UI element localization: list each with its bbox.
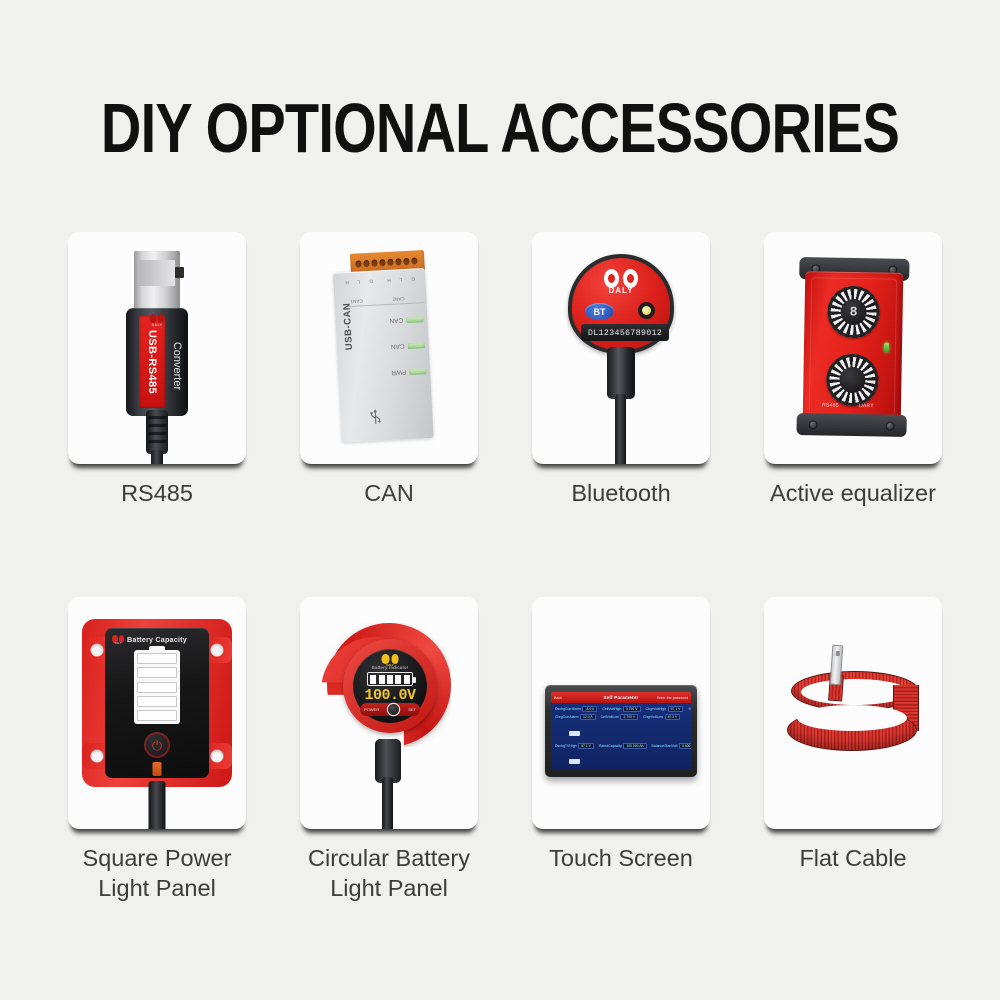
parameter-field: SOC66.0 % <box>688 706 691 712</box>
accessory-cell-touch-screen: Back Self Parameter Enter the password D… <box>532 597 710 829</box>
bt-badge: BT <box>585 303 614 320</box>
battery-indicator-text: Battery Indicator <box>353 665 427 670</box>
parameter-value[interactable]: -8.0 A <box>582 706 597 712</box>
parameter-key: DschgTVHigh <box>555 744 577 748</box>
bluetooth-cable <box>615 394 626 464</box>
status-led <box>406 316 423 323</box>
square-power-light-panel-icon: DALY Battery Capacity <box>82 619 232 829</box>
parameter-value[interactable]: 12.0 A <box>580 714 596 720</box>
equalizer-body: 8 RS485 UART <box>803 271 904 423</box>
caption-circular-battery-light-panel: Circular Battery Light Panel <box>274 843 504 903</box>
parameter-row: DschgTVHigh57.1 VRatedCapacity100.000 Ah… <box>555 743 687 749</box>
battery-level-indicator <box>367 672 413 686</box>
parameter-key: DschgCurrAlarm <box>555 707 581 711</box>
rs485-label: USB-RS485 <box>139 316 165 408</box>
converter-housing: USB-RS485 Converter DALY <box>126 308 188 416</box>
flat-ribbon-cable-icon <box>773 645 933 775</box>
button-label-set: SET <box>408 707 416 712</box>
parameter-value[interactable]: 3.750 V <box>623 706 641 712</box>
screen-button[interactable] <box>569 751 687 769</box>
voltage-readout: 100.0V <box>353 687 427 704</box>
caption-bluetooth: Bluetooth <box>506 478 736 508</box>
parameter-value[interactable]: 57.1 V <box>578 743 594 749</box>
fan-grille: 8 <box>827 286 880 339</box>
caption-touch-screen: Touch Screen <box>506 843 736 873</box>
header-title: Self Parameter <box>604 695 639 700</box>
accessory-cell-active-equalizer: 8 RS485 UART Active equalizer <box>764 232 942 464</box>
parameter-key: SOC <box>688 707 691 711</box>
button-bar[interactable]: POWER SET <box>360 703 420 716</box>
status-led <box>884 343 889 353</box>
display-screen[interactable]: Back Self Parameter Enter the password D… <box>551 692 691 770</box>
parameter-value[interactable]: 3.400 V <box>679 743 691 749</box>
serial-label: DL123456789012 <box>581 324 669 341</box>
power-button[interactable] <box>144 732 170 758</box>
parameter-field: BalanceStartVolt3.400 V <box>652 743 691 749</box>
accessory-cell-can: H L G H L G CAN1 CAN2 USB-CAN CAN <box>300 232 478 464</box>
accessory-cell-rs485: USB-RS485 Converter DALY <box>68 232 246 464</box>
product-card-flat-cable[interactable] <box>764 597 942 829</box>
product-card-active-equalizer[interactable]: 8 RS485 UART <box>764 232 942 464</box>
panel-heading: DALY Battery Capacity <box>112 633 204 645</box>
usb-plug-shell <box>134 250 180 314</box>
accessory-cell-square-power-light-panel: DALY Battery Capacity <box>68 597 246 829</box>
converter-label-text: Converter <box>171 342 183 390</box>
battery-level-indicator <box>134 650 180 724</box>
ribbon-coil-bottom-inner <box>797 705 907 731</box>
parameter-value[interactable]: 40.2 V <box>665 714 681 720</box>
parameter-key: ChrgCurrAlarm <box>555 715 579 719</box>
caption-square-power-light-panel: Square Power Light Panel <box>42 843 272 903</box>
rotary-knob[interactable] <box>388 704 399 715</box>
screen-button[interactable] <box>569 723 687 741</box>
product-card-square-power-light-panel[interactable]: DALY Battery Capacity <box>68 597 246 829</box>
parameter-field: CellVoltHigh3.750 V <box>602 706 640 712</box>
parameter-value[interactable]: 100.000 Ah <box>623 743 646 749</box>
fan-grille <box>826 354 879 407</box>
product-card-touch-screen[interactable]: Back Self Parameter Enter the password D… <box>532 597 710 829</box>
parameter-grid: DschgCurrAlarm-8.0 ACellVoltHigh3.750 VC… <box>551 703 691 770</box>
bluetooth-module-icon: DALY BT DL123456789012 <box>561 254 681 464</box>
caption-flat-cable: Flat Cable <box>738 843 968 873</box>
accessories-poster: DIY OPTIONAL ACCESSORIES USB-RS485 <box>0 0 1000 1000</box>
accessory-cell-flat-cable: Flat Cable <box>764 597 942 829</box>
converter-label: Converter <box>167 318 187 410</box>
product-card-can[interactable]: H L G H L G CAN1 CAN2 USB-CAN CAN <box>300 232 478 464</box>
fan-hub-label: 8 <box>850 304 858 319</box>
cable-strain-relief <box>146 410 168 454</box>
header-left-label[interactable]: Back <box>554 696 562 700</box>
parameter-field: ChrgCurrAlarm12.0 A <box>555 714 596 720</box>
daly-logo-icon: DALY <box>604 269 638 293</box>
battery-capacity-text: Battery Capacity <box>127 635 187 644</box>
caption-active-equalizer: Active equalizer <box>738 478 968 508</box>
parameter-field: DschgCurrAlarm-8.0 A <box>555 706 597 712</box>
panel-cable <box>382 777 393 829</box>
usb-can-text: USB-CAN <box>342 303 355 351</box>
caption-can: CAN <box>274 478 504 508</box>
panel-frame: DALY Battery Capacity <box>82 619 232 787</box>
daly-wordmark: DALY <box>608 286 633 295</box>
usb-can-module-icon: H L G H L G CAN1 CAN2 USB-CAN CAN <box>324 249 454 450</box>
usb-pin <box>158 267 167 278</box>
accessory-cell-bluetooth: DALY BT DL123456789012 Bluetooth <box>532 232 710 464</box>
daly-wordmark: DALY <box>152 323 163 327</box>
parameter-row: DschgCurrAlarm-8.0 ACellVoltHigh3.750 VC… <box>555 706 687 712</box>
connector <box>153 762 162 776</box>
product-card-circular-battery-light-panel[interactable]: DALY Battery Indicator 100.0V POWER SET <box>300 597 478 829</box>
parameter-value[interactable]: 2.700 V <box>620 714 638 720</box>
accessory-cell-circular-battery-light-panel: DALY Battery Indicator 100.0V POWER SET <box>300 597 478 829</box>
daly-logo-icon: DALY <box>150 314 165 323</box>
indicator-led <box>638 302 655 319</box>
product-card-bluetooth[interactable]: DALY BT DL123456789012 <box>532 232 710 464</box>
pin-legend: H L G H L G CAN1 CAN2 <box>343 276 424 307</box>
panel-cable <box>149 781 166 829</box>
cable-neck <box>607 347 635 399</box>
panel-face: DALY Battery Indicator 100.0V POWER SET <box>353 649 427 723</box>
circular-battery-light-panel-icon: DALY Battery Indicator 100.0V POWER SET <box>319 623 459 829</box>
module-housing: H L G H L G CAN1 CAN2 USB-CAN CAN <box>333 268 434 443</box>
header-right-label[interactable]: Enter the password <box>657 696 688 700</box>
parameter-key: CellVoltLow <box>601 715 619 719</box>
parameter-field: RatedCapacity100.000 Ah <box>599 743 647 749</box>
usb-symbol-icon <box>366 406 385 427</box>
parameter-key: ChgrVoltLow <box>643 715 663 719</box>
parameter-key: RatedCapacity <box>599 744 622 748</box>
parameter-row: ChrgCurrAlarm12.0 ACellVoltLow2.700 VChg… <box>555 714 687 720</box>
parameter-key: CellVoltHigh <box>602 707 621 711</box>
port-label-uart: UART <box>859 403 874 409</box>
rs485-label-text: USB-RS485 <box>146 330 158 394</box>
screen-header: Back Self Parameter Enter the password <box>551 692 691 703</box>
active-equalizer-icon: 8 RS485 UART <box>796 257 909 437</box>
status-led <box>409 368 426 375</box>
parameter-field: ChgrVoltHigh57.1 V <box>646 706 684 712</box>
touch-screen-icon: Back Self Parameter Enter the password D… <box>545 685 697 777</box>
end-cap-bottom <box>796 413 906 437</box>
status-led <box>408 342 425 349</box>
parameter-field: DschgTVHigh57.1 V <box>555 743 594 749</box>
usb-pin <box>175 267 184 278</box>
panel-face: DALY Battery Capacity <box>105 628 209 778</box>
product-card-rs485[interactable]: USB-RS485 Converter DALY <box>68 232 246 464</box>
daly-logo-icon: DALY <box>112 635 124 643</box>
caption-rs485: RS485 <box>42 478 272 508</box>
button-label-power: POWER <box>364 707 379 712</box>
module-disc: DALY BT DL123456789012 <box>568 254 674 354</box>
usb-rs485-converter-icon: USB-RS485 Converter DALY <box>120 250 194 464</box>
parameter-value[interactable]: 57.1 V <box>668 706 684 712</box>
parameter-field: ChgrVoltLow40.2 V <box>643 714 680 720</box>
port-label-rs485: RS485 <box>822 402 839 408</box>
parameter-field: CellVoltLow2.700 V <box>601 714 639 720</box>
parameter-key: ChgrVoltHigh <box>646 707 667 711</box>
parameter-key: BalanceStartVolt <box>652 744 678 748</box>
page-title: DIY OPTIONAL ACCESSORIES <box>100 92 900 164</box>
usb-cable <box>151 450 163 464</box>
